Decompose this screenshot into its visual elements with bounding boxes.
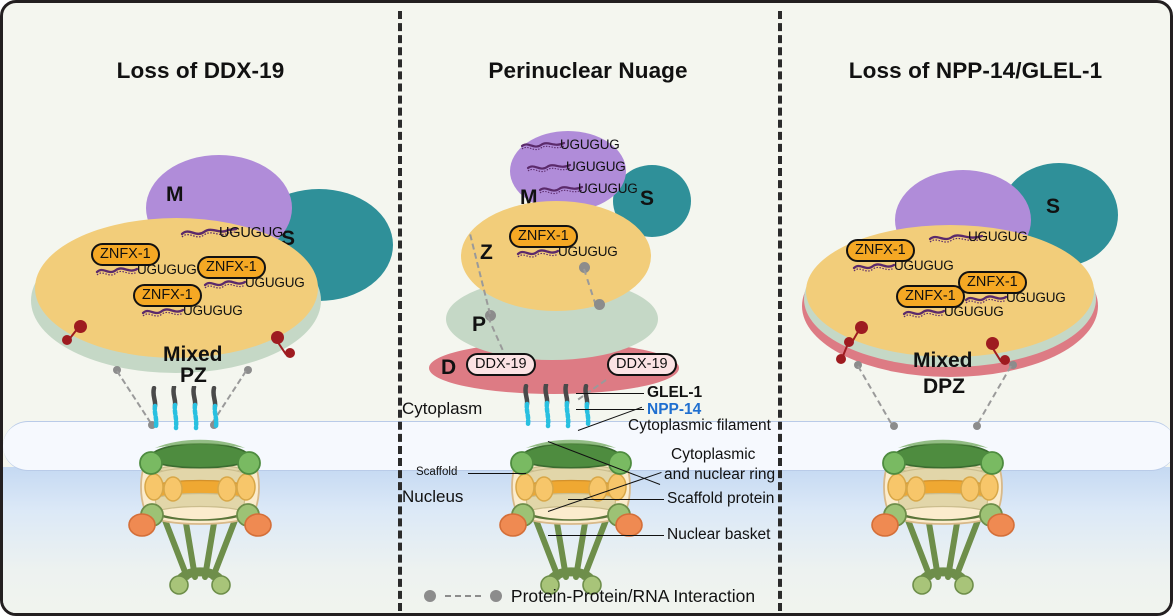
callout-nuclear-basket: Nuclear basket (667, 526, 770, 544)
condensate-Z-letter: Z (480, 241, 493, 265)
condensate-P-letter: P (472, 313, 486, 337)
condensate-S-letter: S (1046, 195, 1060, 219)
mixed-granule-label-line1: Mixed (913, 349, 973, 373)
rna-squiggle (902, 306, 948, 319)
rna-sequence-label: UGUGUG (137, 262, 197, 277)
mixed-granule-label-line2: DPZ (923, 375, 965, 399)
panel-title-right: Loss of NPP-14/GLEL-1 (778, 58, 1173, 84)
callout-leader (548, 535, 664, 536)
rna-sequence-label: UGUGUG (894, 258, 954, 273)
panel-perinuclear-nuage: Perinuclear Nuage S UGUGUG UGUGUG (398, 3, 778, 616)
rna-squiggle (141, 305, 187, 318)
rna-squiggle (852, 260, 898, 273)
rna-sequence-label: UGUGUG (560, 137, 620, 152)
legend-label: Protein-Protein/RNA Interaction (511, 586, 755, 607)
condensate-S-letter: S (640, 187, 654, 211)
panel-title-mid: Perinuclear Nuage (398, 58, 778, 84)
rna-sequence-label: UGUGUG (578, 181, 638, 196)
callout-scaffold: Scaffold (416, 466, 457, 478)
red-interaction-dot (285, 348, 295, 358)
rna-sequence-label: UGUGUG (944, 304, 1004, 319)
ddx19-badge[interactable]: DDX-19 (607, 353, 677, 376)
rna-sequence-label: UGUGUG (1006, 290, 1066, 305)
nuclear-pore-complex (125, 415, 275, 605)
legend-dot-right (490, 590, 502, 602)
callout-leader (568, 499, 664, 500)
mixed-granule-label-line2: PZ (180, 364, 207, 388)
nuclear-pore-complex (496, 415, 646, 605)
ddx19-badge[interactable]: DDX-19 (466, 353, 536, 376)
condensate-D-letter: D (441, 356, 456, 380)
rna-squiggle (203, 277, 249, 290)
callout-glel1: GLEL-1 (647, 384, 702, 402)
callout-cytoplasmic-filament: Cytoplasmic filament (628, 417, 771, 435)
panel-loss-of-npp14-glel1: Loss of NPP-14/GLEL-1 S M UGUGUG ZNFX-1 (778, 3, 1173, 616)
callout-leader (576, 393, 644, 394)
interaction-dot (594, 299, 605, 310)
nuclear-pore-complex (868, 415, 1018, 605)
legend-dashed-line (445, 595, 481, 597)
red-interaction-dot (836, 354, 846, 364)
rna-sequence-label: UGUGUG (245, 275, 305, 290)
rna-squiggle (516, 246, 562, 259)
red-interaction-dot (62, 335, 72, 345)
callout-scaffold-protein: Scaffold protein (667, 490, 774, 508)
rna-sequence-label: UGUGUG (183, 303, 243, 318)
condensate-M-letter: M (166, 183, 184, 207)
rna-sequence-label: UGUGUG (558, 244, 618, 259)
legend-dot-left (424, 590, 436, 602)
figure-root: Cytoplasm Nucleus Loss of DDX-19 S M UGU… (0, 0, 1173, 616)
rna-squiggle (95, 264, 141, 277)
legend: Protein-Protein/RNA Interaction (3, 581, 1173, 611)
rna-sequence-label: UGUGUG (968, 229, 1028, 244)
rna-sequence-label: UGUGUG (219, 225, 283, 241)
callout-ring-line1: Cytoplasmic (671, 446, 755, 464)
callout-ring-line2: and nuclear ring (664, 466, 775, 484)
callout-leader (468, 473, 526, 474)
rna-sequence-label: UGUGUG (566, 159, 626, 174)
panel-title-left: Loss of DDX-19 (3, 58, 398, 84)
panel-loss-of-ddx19: Loss of DDX-19 S M UGUGUG ZNFX-1 UGUGUG (3, 3, 398, 616)
